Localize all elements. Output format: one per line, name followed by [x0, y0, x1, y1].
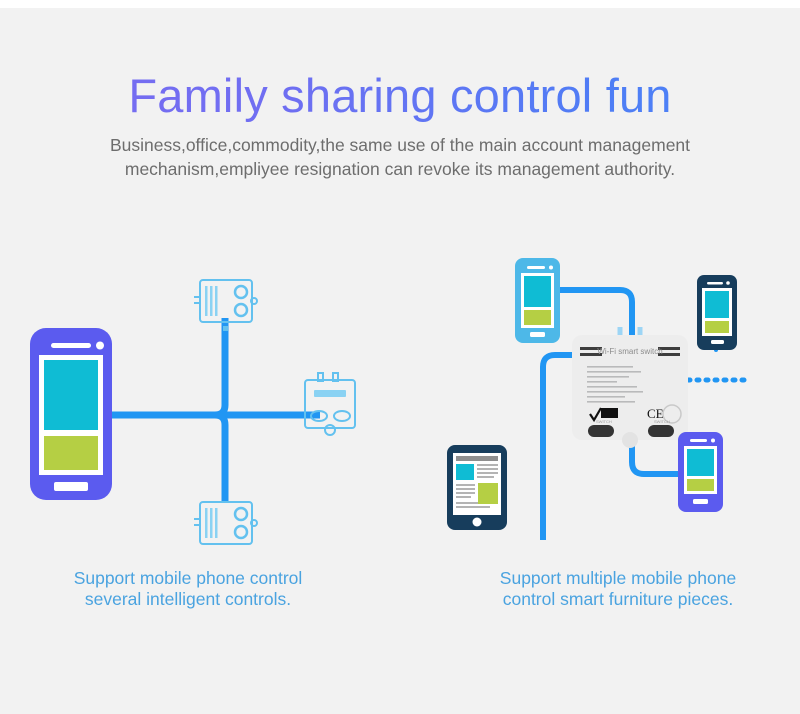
wifi-smart-switch-main: Wi-Fi smart switch CE SWITCH SWITCH — [572, 327, 688, 448]
screen-cyan-block — [44, 360, 98, 430]
page-title: Family sharing control fun — [0, 68, 800, 123]
caption-right-line-1: Support multiple mobile phone — [418, 568, 800, 589]
smartphone-main — [30, 328, 112, 500]
switch-label: Wi-Fi smart switch — [597, 347, 662, 356]
diagram-panel-right: Wi-Fi smart switch CE SWITCH SWITCH — [420, 240, 800, 550]
caption-left: Support mobile phone control several int… — [0, 568, 388, 610]
subtitle-line-1: Business,office,commodity,the same use o… — [0, 133, 800, 157]
phone-top-left — [515, 258, 560, 343]
wifi-switch-middle — [305, 373, 355, 435]
subtitle-line-2: mechanism,empliyee resignation can revok… — [0, 157, 800, 181]
phone-bottom-right — [678, 432, 723, 512]
caption-left-line-2: several intelligent controls. — [0, 589, 388, 610]
svg-text:SWITCH: SWITCH — [596, 419, 612, 424]
top-white-strip — [0, 0, 800, 8]
tablet-bottom-left — [447, 445, 507, 530]
caption-left-line-1: Support mobile phone control — [0, 568, 388, 589]
wifi-switch-bottom — [194, 502, 257, 544]
svg-text:SWITCH: SWITCH — [654, 419, 670, 424]
screen-green-block — [44, 436, 98, 470]
page-subtitle: Business,office,commodity,the same use o… — [0, 133, 800, 181]
caption-right-line-2: control smart furniture pieces. — [418, 589, 800, 610]
diagram-panel-left — [20, 240, 400, 550]
caption-right: Support multiple mobile phone control sm… — [418, 568, 800, 610]
connector-lines-left — [112, 318, 320, 502]
phone-top-right — [697, 275, 737, 350]
